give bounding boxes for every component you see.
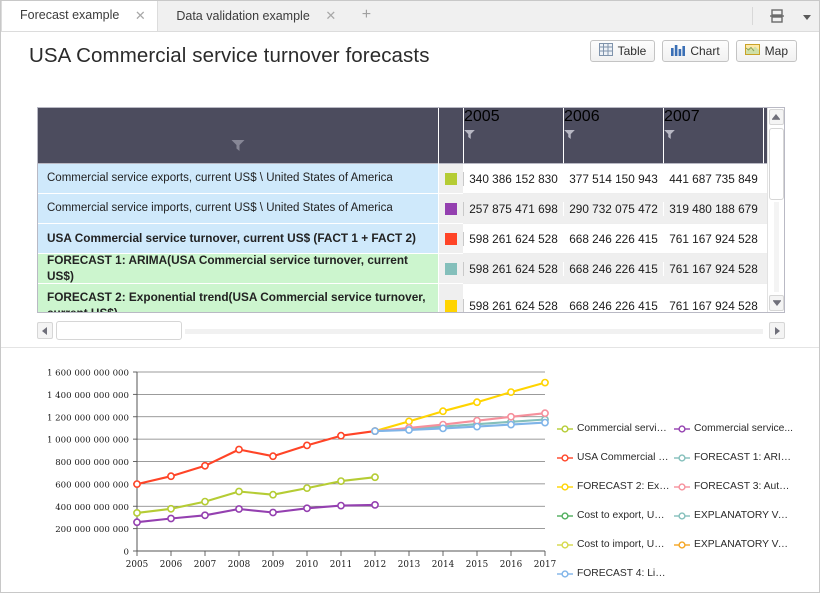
row-name: FORECAST 1: ARIMA(USA Commercial service… <box>47 253 429 285</box>
tab-forecast-example[interactable]: Forecast example ✕ <box>1 0 158 31</box>
table-row[interactable]: USA Commercial service turnover, current… <box>38 224 438 254</box>
split-layout-icon[interactable] <box>769 8 785 24</box>
table-row-values[interactable]: 598 261 624 528 668 246 226 415 761 167 … <box>463 224 784 254</box>
table-row[interactable]: Commercial service exports, current US$ … <box>38 164 438 194</box>
legend-label: FORECAST 1: ARIM... <box>694 452 794 463</box>
series-color-swatch <box>445 233 457 245</box>
filter-funnel-icon[interactable] <box>564 126 663 144</box>
legend-marker <box>557 511 573 521</box>
x-axis-tick-label: 2008 <box>228 560 250 570</box>
new-tab-button[interactable]: + <box>348 7 385 26</box>
table-horizontal-scrollbar[interactable] <box>37 321 785 340</box>
map-icon <box>745 43 760 59</box>
scrollbar-thumb-vertical[interactable] <box>769 128 784 200</box>
x-axis-tick-label: 2015 <box>466 560 488 570</box>
legend-item[interactable]: EXPLANATORY VAR... <box>674 501 794 530</box>
table-grid: Commercial service exports, current US$ … <box>38 108 784 312</box>
table-name-column: Commercial service exports, current US$ … <box>38 108 438 312</box>
chart-legend: Commercial service... Commercial service… <box>557 414 807 588</box>
line-chart[interactable]: 0200 000 000 000400 000 000 000600 000 0… <box>1 351 561 593</box>
cell-2007: 761 167 924 528 <box>663 262 763 276</box>
tab-bar: Forecast example ✕ Data validation examp… <box>1 1 820 32</box>
tab-label: Forecast example <box>20 8 119 22</box>
cell-2006: 668 246 226 415 <box>563 262 663 276</box>
table-header-2006[interactable]: 2006 <box>563 108 663 164</box>
series-color-swatch <box>445 263 457 275</box>
cell-2006: 668 246 226 415 <box>563 232 663 246</box>
y-axis-tick-label: 0 <box>124 548 129 558</box>
close-icon[interactable]: ✕ <box>324 9 338 22</box>
legend-marker <box>674 540 690 550</box>
series-color-swatch <box>445 203 457 215</box>
legend-item[interactable]: Commercial service... <box>674 414 794 443</box>
legend-marker <box>674 511 690 521</box>
legend-label: FORECAST 3: Auto-... <box>694 481 794 492</box>
color-cell[interactable] <box>439 164 463 194</box>
table-row-values[interactable]: 257 875 471 698 290 732 075 472 319 480 … <box>463 194 784 224</box>
legend-marker <box>674 482 690 492</box>
legend-label: USA Commercial se... <box>577 452 670 463</box>
bar-chart-icon <box>671 43 685 59</box>
y-axis-tick-label: 1 600 000 000 000 <box>47 369 129 379</box>
scrollbar-thumb-horizontal[interactable] <box>56 321 182 340</box>
y-axis-tick-label: 600 000 000 000 <box>55 480 129 490</box>
y-axis-tick-label: 400 000 000 000 <box>55 503 129 513</box>
x-axis-tick-label: 2007 <box>194 560 216 570</box>
divider <box>752 7 753 25</box>
legend-label: Cost to import, US$... <box>577 539 670 550</box>
view-mode-buttons: Table Chart Map <box>590 40 797 62</box>
close-icon[interactable]: ✕ <box>133 9 147 22</box>
legend-label: EXPLANATORY VAR... <box>694 510 794 521</box>
tab-label: Data validation example <box>176 9 309 23</box>
table-header-name[interactable] <box>38 108 438 164</box>
legend-item[interactable]: Commercial service... <box>557 414 670 443</box>
legend-marker <box>674 453 690 463</box>
cell-2006: 377 514 150 943 <box>563 172 663 186</box>
cell-2007: 761 167 924 528 <box>663 232 763 246</box>
x-axis-tick-label: 2006 <box>160 560 183 570</box>
legend-marker <box>557 540 573 550</box>
chevron-down-icon[interactable] <box>801 10 813 22</box>
cell-2007: 761 167 924 528 <box>663 299 763 313</box>
x-axis-tick-label: 2014 <box>432 560 455 570</box>
series-color-swatch <box>445 300 457 312</box>
year-header-label: 2007 <box>664 108 763 126</box>
color-cell[interactable] <box>439 284 463 313</box>
map-view-button[interactable]: Map <box>736 40 797 62</box>
series-color-swatch <box>445 173 457 185</box>
legend-marker <box>674 424 690 434</box>
x-axis-tick-label: 2017 <box>534 560 556 570</box>
legend-label: Commercial service... <box>577 423 670 434</box>
color-cell[interactable] <box>439 254 463 284</box>
legend-label: FORECAST 4: Linea... <box>577 568 670 579</box>
legend-item[interactable]: USA Commercial se... <box>557 443 670 472</box>
color-cell[interactable] <box>439 194 463 224</box>
x-axis-tick-label: 2012 <box>364 560 386 570</box>
y-axis-tick-label: 1 000 000 000 000 <box>47 436 129 446</box>
table-row[interactable]: FORECAST 1: ARIMA(USA Commercial service… <box>38 254 438 284</box>
scroll-right-icon[interactable] <box>769 322 785 339</box>
data-table[interactable]: Commercial service exports, current US$ … <box>37 107 785 313</box>
x-axis-tick-label: 2005 <box>126 560 148 570</box>
legend-label: Cost to export, US$... <box>577 510 670 521</box>
legend-item[interactable]: Cost to export, US$... <box>557 501 670 530</box>
filter-funnel-icon[interactable] <box>464 126 563 144</box>
row-name: USA Commercial service turnover, current… <box>47 231 416 247</box>
legend-item[interactable]: FORECAST 3: Auto-... <box>674 472 794 501</box>
table-row-values[interactable]: 598 261 624 528 668 246 226 415 761 167 … <box>463 254 784 284</box>
chart-view-label: Chart <box>690 44 719 58</box>
row-name: FORECAST 2: Exponential trend(USA Commer… <box>47 290 429 313</box>
y-axis-tick-label: 800 000 000 000 <box>55 458 129 468</box>
y-axis-tick-label: 200 000 000 000 <box>55 525 129 535</box>
table-view-label: Table <box>618 44 647 58</box>
legend-item[interactable]: FORECAST 2: Expo... <box>557 472 670 501</box>
legend-marker <box>557 482 573 492</box>
table-color-column <box>438 108 463 312</box>
legend-label: Commercial service... <box>694 423 793 434</box>
cell-2005: 598 261 624 528 <box>463 262 563 276</box>
table-header-2005[interactable]: 2005 <box>463 108 563 164</box>
table-header-2007[interactable]: 2007 <box>663 108 763 164</box>
x-axis-tick-label: 2016 <box>500 560 523 570</box>
year-header-label: 2006 <box>564 108 663 126</box>
x-axis-tick-label: 2010 <box>296 560 319 570</box>
table-header-color <box>439 108 463 164</box>
legend-item[interactable]: EXPLANATORY VAR... <box>674 530 794 559</box>
legend-label: EXPLANATORY VAR... <box>694 539 794 550</box>
filter-funnel-icon[interactable] <box>232 138 245 156</box>
page-title: USA Commercial service turnover forecast… <box>29 44 430 68</box>
legend-item[interactable]: Cost to import, US$... <box>557 530 670 559</box>
scrollbar-track-horizontal[interactable] <box>185 329 763 334</box>
table-vertical-scrollbar[interactable] <box>767 108 784 312</box>
cell-2005: 598 261 624 528 <box>463 299 563 313</box>
cell-2007: 319 480 188 679 <box>663 202 763 216</box>
table-year-headers: 2005 2006 2007 <box>463 108 784 164</box>
scrollbar-track-vertical[interactable] <box>774 202 779 292</box>
x-axis-tick-label: 2013 <box>398 560 420 570</box>
table-icon <box>599 43 613 59</box>
legend-marker <box>557 453 573 463</box>
table-row-values[interactable]: 598 261 624 528 668 246 226 415 761 167 … <box>463 284 784 312</box>
legend-label: FORECAST 2: Expo... <box>577 481 670 492</box>
scroll-left-icon[interactable] <box>37 322 53 339</box>
tab-bar-actions <box>752 0 820 31</box>
table-color-cells <box>439 164 463 313</box>
application-window: Forecast example ✕ Data validation examp… <box>0 0 820 593</box>
cell-2005: 257 875 471 698 <box>463 202 563 216</box>
x-axis-tick-label: 2009 <box>262 560 284 570</box>
row-name: Commercial service imports, current US$ … <box>47 201 393 217</box>
table-row-values[interactable]: 340 386 152 830 377 514 150 943 441 687 … <box>463 164 784 194</box>
year-header-label: 2005 <box>464 108 563 126</box>
table-value-cells: 340 386 152 830 377 514 150 943 441 687 … <box>463 164 784 312</box>
cell-2005: 598 261 624 528 <box>463 232 563 246</box>
scroll-down-icon[interactable] <box>769 295 784 311</box>
color-cell[interactable] <box>439 224 463 254</box>
table-view-button[interactable]: Table <box>590 40 656 62</box>
table-name-cells: Commercial service exports, current US$ … <box>38 164 438 313</box>
y-axis-tick-label: 1 400 000 000 000 <box>47 391 129 401</box>
legend-marker <box>557 424 573 434</box>
table-row[interactable]: FORECAST 2: Exponential trend(USA Commer… <box>38 284 438 313</box>
tab-data-validation-example[interactable]: Data validation example ✕ <box>158 0 347 31</box>
legend-item[interactable]: FORECAST 4: Linea... <box>557 559 670 588</box>
table-year-columns: 2005 2006 2007 <box>463 108 784 312</box>
filter-funnel-icon[interactable] <box>664 126 763 144</box>
row-name: Commercial service exports, current US$ … <box>47 171 393 187</box>
x-axis-tick-label: 2011 <box>330 560 352 570</box>
cell-2005: 340 386 152 830 <box>463 172 563 186</box>
legend-marker <box>557 569 573 579</box>
map-view-label: Map <box>765 44 788 58</box>
legend-item[interactable]: FORECAST 1: ARIM... <box>674 443 794 472</box>
cell-2006: 290 732 075 472 <box>563 202 663 216</box>
table-row[interactable]: Commercial service imports, current US$ … <box>38 194 438 224</box>
cell-2006: 668 246 226 415 <box>563 299 663 313</box>
cell-2007: 441 687 735 849 <box>663 172 763 186</box>
panel-divider <box>1 347 820 348</box>
scroll-up-icon[interactable] <box>769 109 784 125</box>
y-axis-tick-label: 1 200 000 000 000 <box>47 413 129 423</box>
chart-view-button[interactable]: Chart <box>662 40 728 62</box>
